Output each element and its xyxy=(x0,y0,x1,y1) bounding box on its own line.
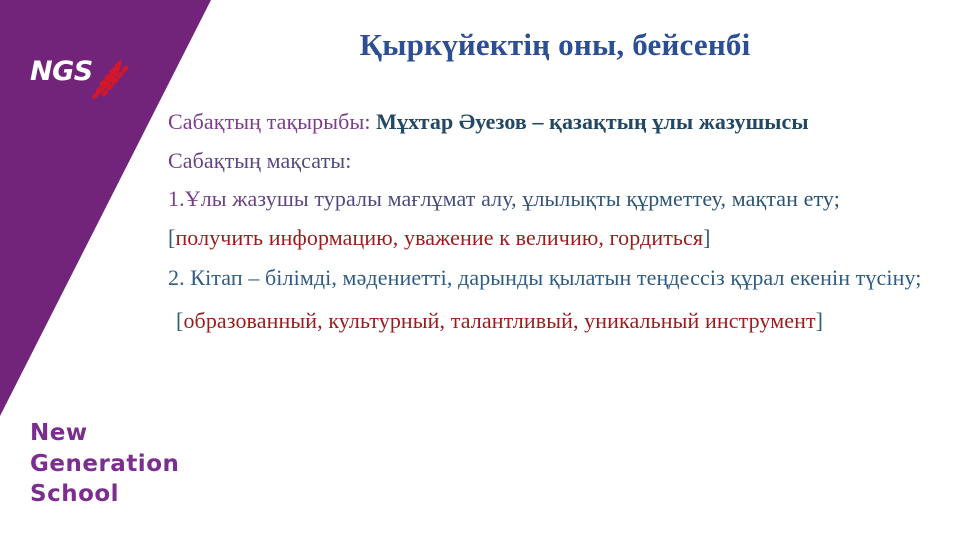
lesson-topic-value: Мұхтар Әуезов – қазақтың ұлы жазушысы xyxy=(376,109,809,134)
slide-canvas: NGS Қыркүйектің оны, бейсенбі Сабақтың т xyxy=(0,0,960,540)
translation-2-text: образованный, культурный, талантливый, у… xyxy=(183,308,815,333)
lesson-goal-label: Сабақтың мақсаты: xyxy=(168,147,943,176)
brand-line-3: School xyxy=(30,479,179,510)
lesson-objective-1: 1.Ұлы жазушы туралы мағлұмат алу, ұлылық… xyxy=(168,185,943,214)
lesson-objective-2: 2. Кітап – білімді, мәдениетті, дарынды … xyxy=(168,264,943,293)
ngs-wordmark: NGS xyxy=(30,58,93,85)
lesson-topic-label: Сабақтың тақырыбы: xyxy=(168,109,371,134)
slide-title: Қыркүйектің оны, бейсенбі xyxy=(160,28,950,62)
lesson-translation-2: [образованный, культурный, талантливый, … xyxy=(168,307,943,336)
brand-line-1: New xyxy=(30,418,179,449)
close-bracket: ] xyxy=(816,308,823,333)
wheat-sprig-icon xyxy=(87,56,133,106)
close-bracket: ] xyxy=(703,225,710,250)
ngs-logo: NGS xyxy=(30,56,150,108)
slide-body: Сабақтың тақырыбы: Мұхтар Әуезов – қазақ… xyxy=(168,108,943,345)
lesson-translation-1: [получить информацию, уважение к величию… xyxy=(168,224,943,253)
translation-1-text: получить информацию, уважение к величию,… xyxy=(175,225,703,250)
lesson-topic-line: Сабақтың тақырыбы: Мұхтар Әуезов – қазақ… xyxy=(168,108,943,137)
brand-line-2: Generation xyxy=(30,449,179,480)
brand-lockup: New Generation School xyxy=(30,418,179,510)
